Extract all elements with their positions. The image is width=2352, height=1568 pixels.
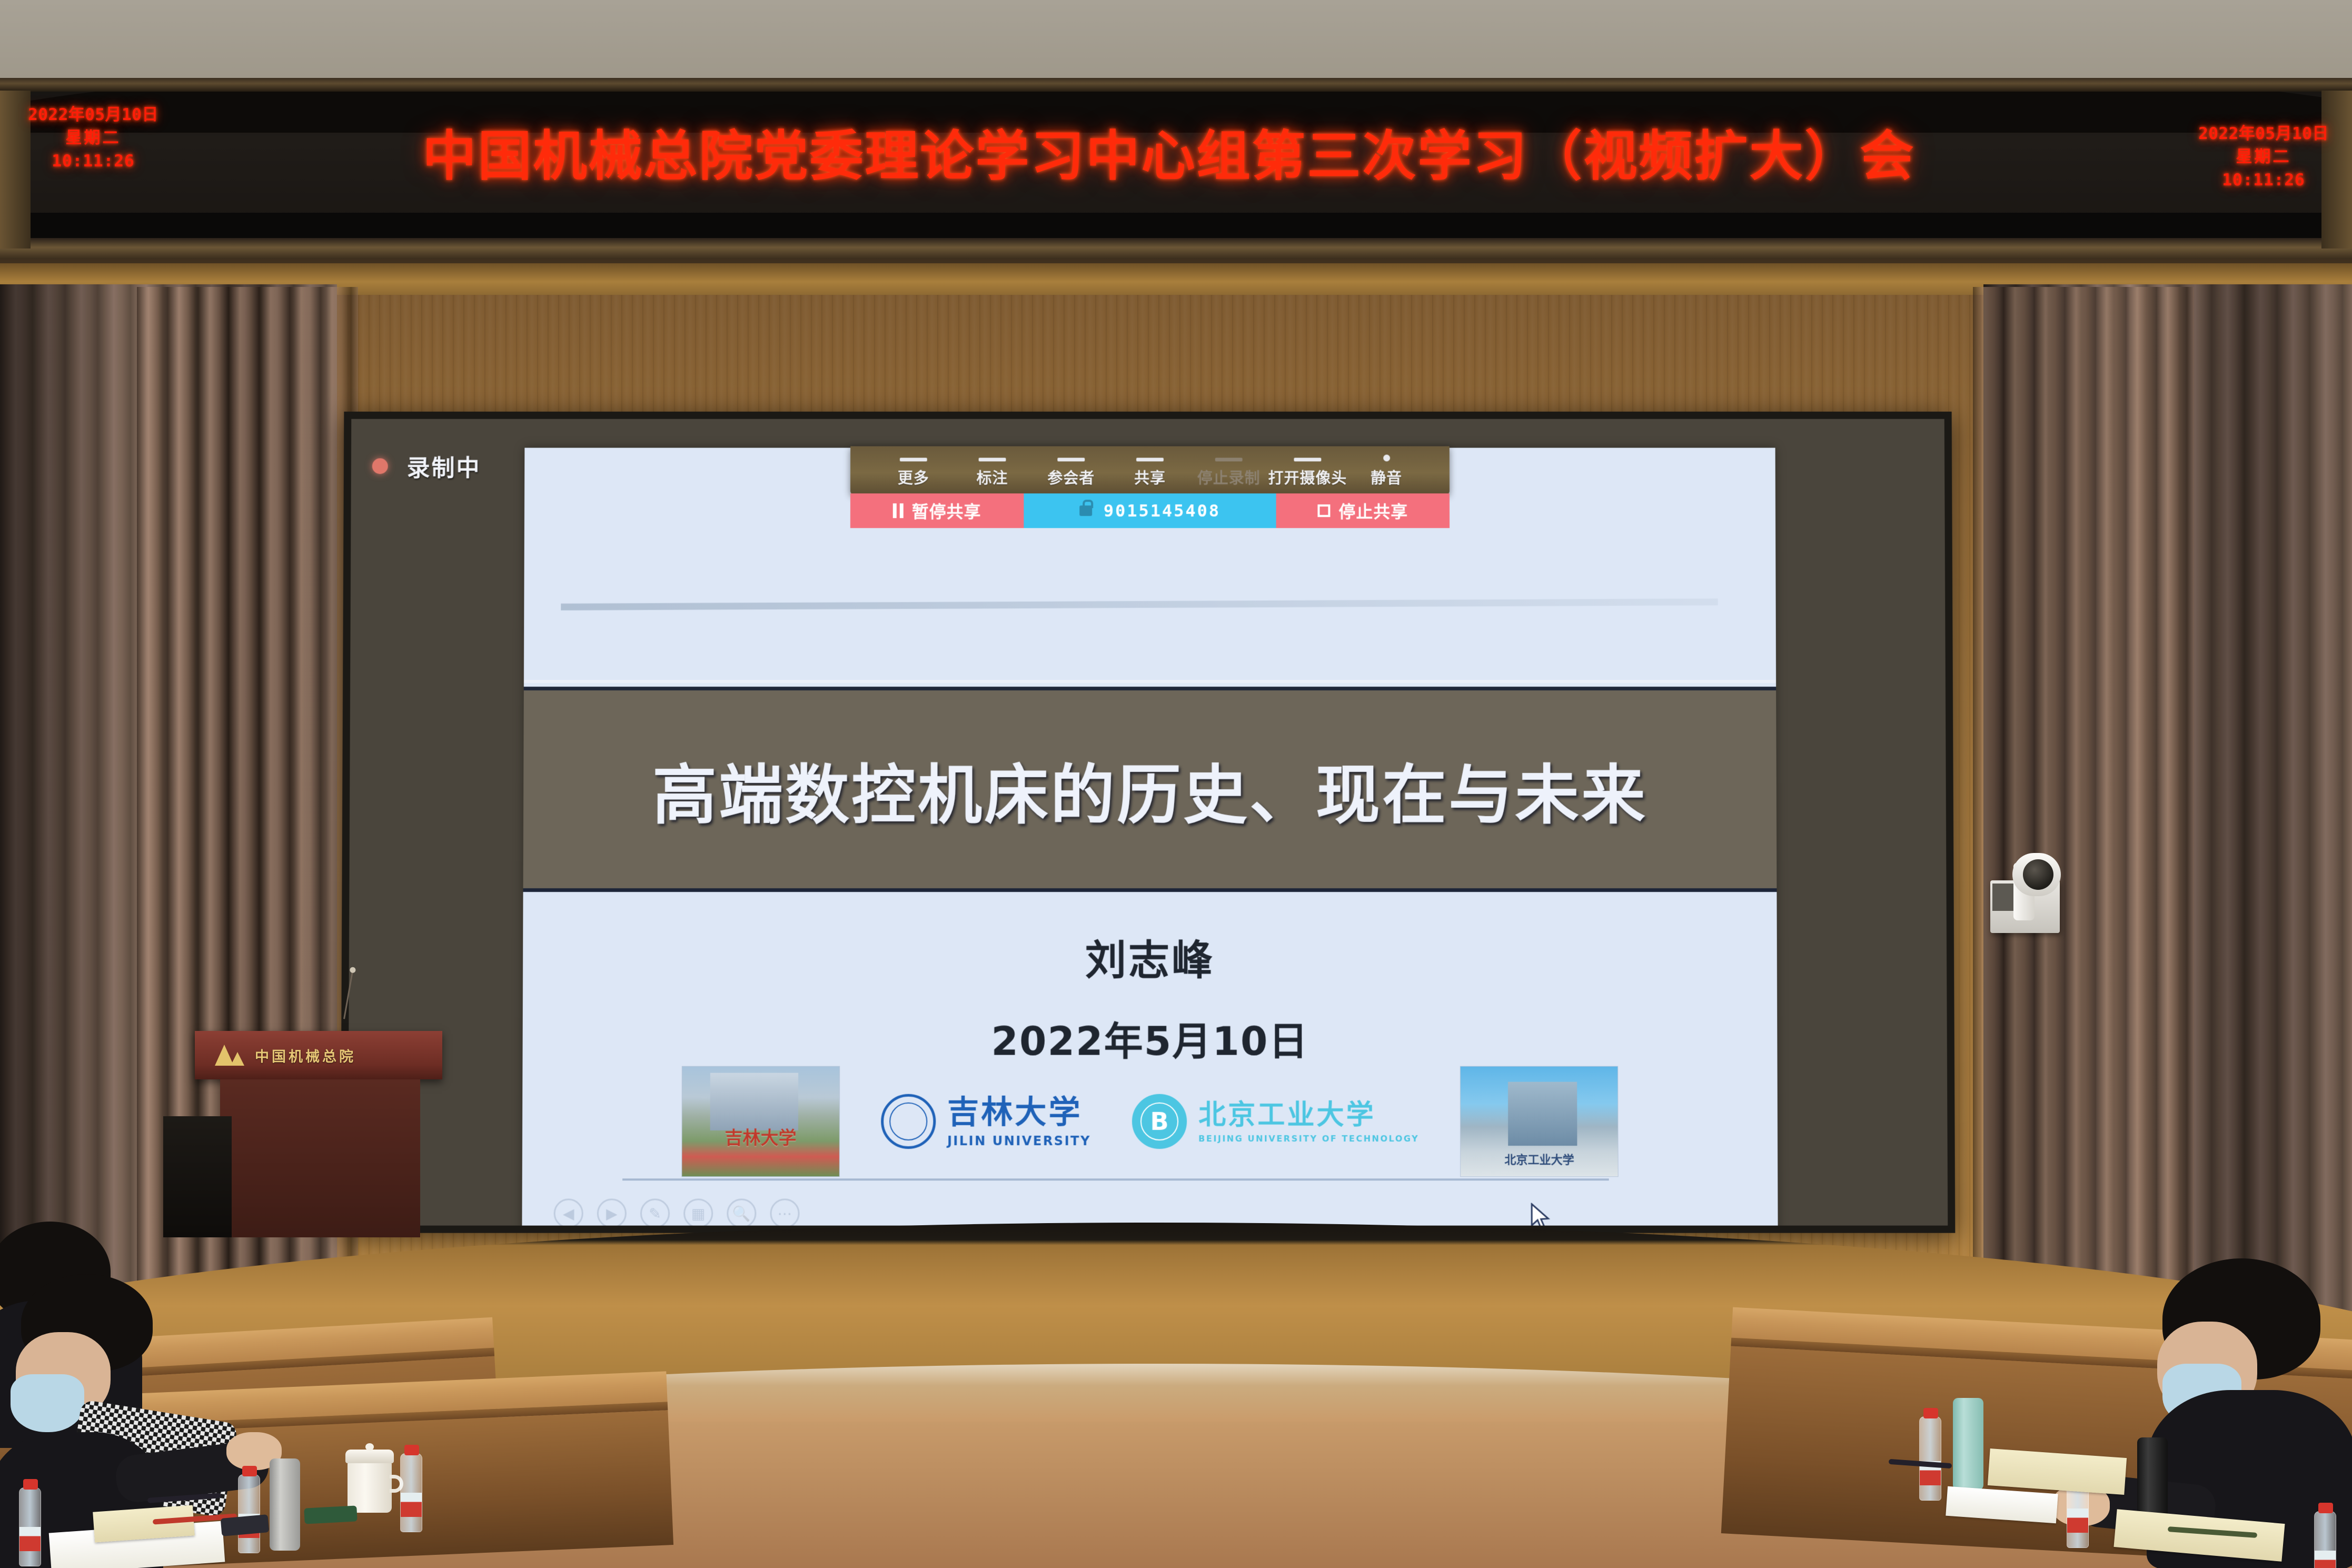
room-scene: 2022年05月10日 星期二 10:11:26 中国机械总院党委理论学习中心组… xyxy=(0,0,2352,1568)
zoom-slide-icon[interactable]: 🔍 xyxy=(727,1198,756,1225)
bjut-logo-en: BEIJING UNIVERSITY OF TECHNOLOGY xyxy=(1198,1134,1419,1144)
stop-record-icon xyxy=(1215,458,1243,461)
zoom-camera-label: 打开摄像头 xyxy=(1268,466,1347,488)
mute-mic-icon xyxy=(1383,454,1390,461)
zoom-mute-button[interactable]: 静音 xyxy=(1347,454,1426,488)
podium-nameplate: 中国机械总院 xyxy=(215,1045,356,1066)
pause-share-button[interactable]: 暂停共享 xyxy=(850,493,1024,528)
water-bottle xyxy=(400,1453,422,1532)
bjut-logo-cn: 北京工业大学 xyxy=(1198,1099,1419,1129)
led-right-date: 2022年05月10日 xyxy=(2185,122,2343,145)
jilin-logo-cn: 吉林大学 xyxy=(947,1095,1091,1130)
shared-screen-window: 高端数控机床的历史、现在与未来 刘志峰 2022年5月10日 吉林大学 JI xyxy=(522,448,1778,1225)
slide-header-rule xyxy=(561,599,1718,611)
jilin-university-logo: 吉林大学 JILIN UNIVERSITY xyxy=(881,1094,1091,1149)
annotate-icon xyxy=(979,458,1006,461)
zoom-camera-button[interactable]: 打开摄像头 xyxy=(1268,458,1347,488)
all-slides-icon[interactable]: ▦ xyxy=(683,1198,713,1225)
mountain-triangle-logo-icon xyxy=(215,1045,243,1066)
zoom-more-label: 更多 xyxy=(898,466,929,488)
zoom-annotate-label: 标注 xyxy=(977,466,1008,488)
bjut-logo: 北京工业大学 BEIJING UNIVERSITY OF TECHNOLOGY xyxy=(1132,1094,1419,1149)
stop-square-icon xyxy=(1317,504,1330,517)
floor-speaker xyxy=(163,1116,232,1237)
slide-title: 高端数控机床的历史、现在与未来 xyxy=(652,743,1648,836)
powerpoint-presenter-controls[interactable]: ◀ ▶ ✎ ▦ 🔍 ⋯ xyxy=(554,1198,800,1225)
zoom-participants-button[interactable]: 参会者 xyxy=(1031,458,1110,488)
zoom-annotate-button[interactable]: 标注 xyxy=(953,458,1032,488)
zoom-stop-record-label: 停止录制 xyxy=(1197,466,1261,488)
camera-icon xyxy=(1294,458,1321,461)
led-frame-top xyxy=(0,78,2352,92)
led-clock-left: 2022年05月10日 星期二 10:11:26 xyxy=(12,103,175,173)
camera-lens-icon xyxy=(2023,859,2053,890)
podium-top-panel: 中国机械总院 xyxy=(195,1031,442,1079)
presenter-name: 刘志峰 xyxy=(523,928,1777,987)
mouse-cursor xyxy=(1530,1203,1553,1225)
pause-icon xyxy=(893,503,904,518)
smartphone xyxy=(304,1505,357,1524)
projection-surface: 录制中 高端数控机床的历史、现在与未来 刘志峰 2022年5月10日 xyxy=(348,419,1948,1226)
zoom-toolbar-buttons[interactable]: 更多 标注 参会者 共享 xyxy=(850,446,1450,494)
jilin-university-campus-photo xyxy=(681,1066,840,1177)
powerpoint-slide: 高端数控机床的历史、现在与未来 刘志峰 2022年5月10日 吉林大学 JI xyxy=(522,448,1778,1225)
zoom-meeting-toolbar[interactable]: 更多 标注 参会者 共享 xyxy=(850,446,1450,528)
water-bottle xyxy=(19,1487,41,1566)
podium-org-label: 中国机械总院 xyxy=(255,1045,356,1066)
zoom-more-button[interactable]: 更多 xyxy=(874,458,953,488)
led-left-weekday: 星期二 xyxy=(12,126,175,150)
water-bottle xyxy=(1919,1416,1941,1501)
recording-label: 录制中 xyxy=(407,449,481,483)
university-logo-row: 吉林大学 JILIN UNIVERSITY 北京工业大学 BEIJING UNI… xyxy=(522,1066,1778,1177)
jilin-logo-en: JILIN UNIVERSITY xyxy=(947,1134,1091,1148)
slide-title-band: 高端数控机床的历史、现在与未来 xyxy=(523,687,1777,892)
podium-body xyxy=(220,1079,420,1237)
meeting-id-value: 9015145408 xyxy=(1104,501,1220,521)
recording-dot-icon xyxy=(372,458,388,474)
zoom-mute-label: 静音 xyxy=(1371,466,1402,488)
led-right-time: 10:11:26 xyxy=(2185,168,2343,192)
zoom-share-bar[interactable]: 暂停共享 9015145408 停止共享 xyxy=(850,493,1450,528)
thermos-flask xyxy=(1953,1398,1983,1490)
projection-screen: 录制中 高端数控机床的历史、现在与未来 刘志峰 2022年5月10日 xyxy=(341,412,1956,1233)
slide-footer-rule xyxy=(622,1178,1609,1180)
podium: 中国机械总院 xyxy=(195,1016,442,1237)
next-slide-icon[interactable]: ▶ xyxy=(597,1198,627,1225)
led-left-date: 2022年05月10日 xyxy=(12,103,175,126)
ptz-camera xyxy=(1985,847,2064,934)
lock-icon xyxy=(1079,505,1092,516)
led-clock-right: 2022年05月10日 星期二 10:11:26 xyxy=(2185,122,2343,192)
stop-share-label: 停止共享 xyxy=(1338,499,1408,523)
share-icon xyxy=(1136,458,1164,461)
bjut-seal-icon xyxy=(1132,1094,1187,1149)
bjut-campus-photo xyxy=(1460,1066,1619,1177)
led-frame-bottom xyxy=(0,238,2352,259)
zoom-share-label: 共享 xyxy=(1134,466,1166,488)
prev-slide-icon[interactable]: ◀ xyxy=(554,1198,583,1225)
led-left-time: 10:11:26 xyxy=(12,150,175,173)
participants-icon xyxy=(1057,458,1085,461)
tea-cup xyxy=(348,1461,392,1513)
pause-share-label: 暂停共享 xyxy=(912,499,981,523)
jilin-seal-icon xyxy=(881,1094,936,1149)
thermos-flask xyxy=(270,1458,300,1551)
zoom-stop-record-button: 停止录制 xyxy=(1189,458,1268,488)
pen-tool-icon[interactable]: ✎ xyxy=(640,1198,670,1225)
meeting-id-chip[interactable]: 9015145408 xyxy=(1024,493,1276,528)
slide-body-area: 刘志峰 2022年5月10日 吉林大学 JILIN UNIVERSITY xyxy=(522,892,1778,1226)
stop-share-button[interactable]: 停止共享 xyxy=(1276,493,1450,528)
recording-indicator: 录制中 xyxy=(372,449,481,483)
led-right-weekday: 星期二 xyxy=(2185,145,2343,168)
curtain-fold-right xyxy=(1973,287,2194,1308)
zoom-participants-label: 参会者 xyxy=(1047,466,1095,488)
presentation-date: 2022年5月10日 xyxy=(522,1010,1777,1066)
led-headline: 中国机械总院党委理论学习中心组第三次学习（视频扩大）会 xyxy=(184,113,2153,191)
more-icon xyxy=(900,458,927,461)
more-options-icon[interactable]: ⋯ xyxy=(770,1198,799,1225)
water-bottle xyxy=(2314,1511,2336,1568)
zoom-share-button[interactable]: 共享 xyxy=(1110,458,1189,488)
water-bottle xyxy=(238,1474,260,1553)
